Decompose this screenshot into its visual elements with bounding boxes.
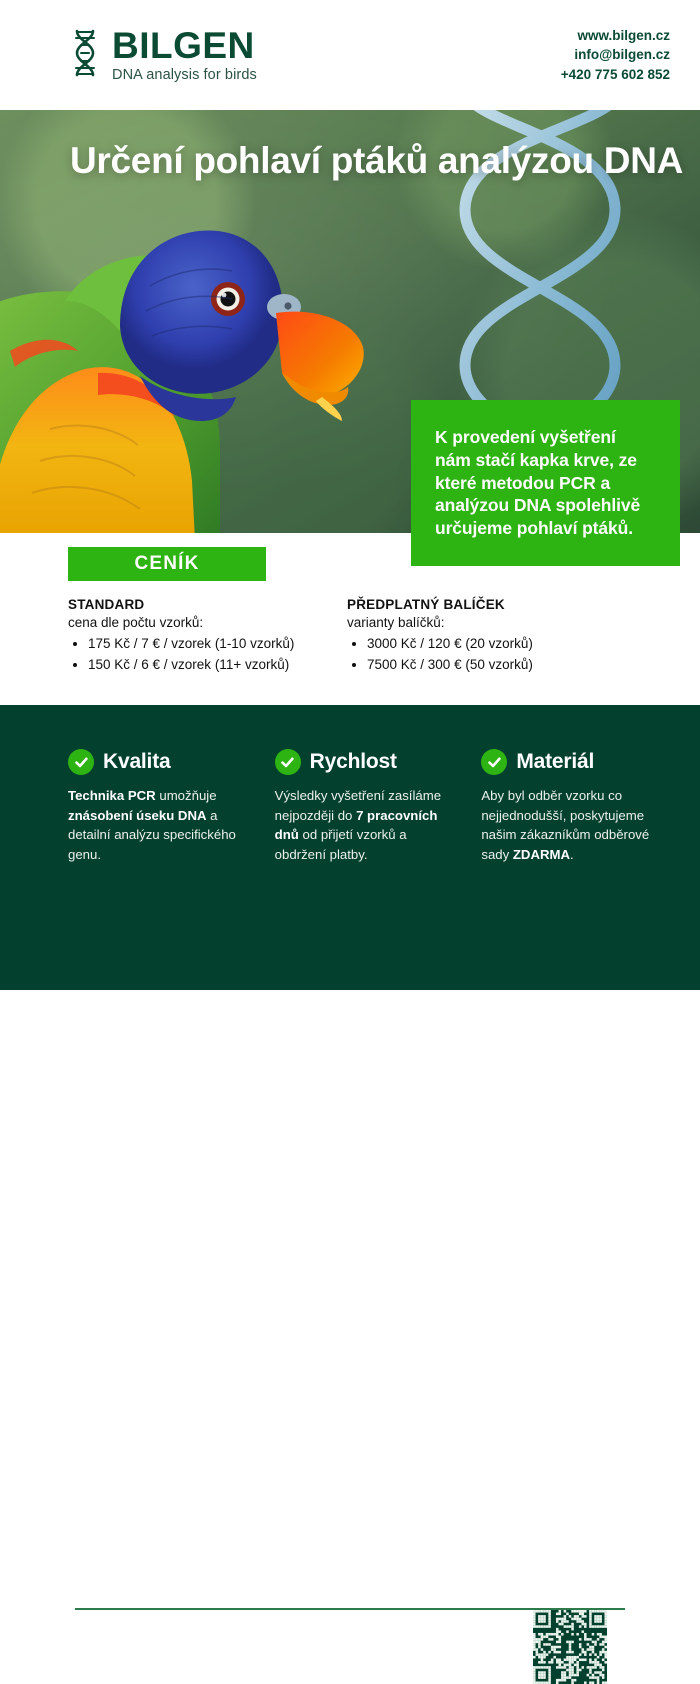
- standard-title: STANDARD: [68, 597, 348, 612]
- check-circle-icon: [68, 749, 94, 775]
- qr-code-icon[interactable]: [533, 1610, 607, 1684]
- page-header: BILGEN DNA analysis for birds www.bilgen…: [0, 0, 700, 110]
- standard-subtitle: cena dle počtu vzorků:: [68, 615, 348, 630]
- feature-kvalita: Kvalita Technika PCR umožňuje znásobení …: [68, 749, 251, 864]
- list-item: 3000 Kč / 120 € (20 vzorků): [367, 634, 647, 655]
- standard-price-list: 175 Kč / 7 € / vzorek (1-10 vzorků) 150 …: [88, 634, 348, 676]
- features-section: Kvalita Technika PCR umožňuje znásobení …: [0, 705, 700, 990]
- feature-body: Technika PCR umožňuje znásobení úseku DN…: [68, 786, 251, 864]
- check-circle-icon: [481, 749, 507, 775]
- list-item: 175 Kč / 7 € / vzorek (1-10 vzorků): [88, 634, 348, 655]
- dna-helix-icon: [70, 29, 100, 81]
- hero-title: Určení pohlaví ptáků analýzou DNA: [70, 138, 683, 185]
- check-circle-icon: [275, 749, 301, 775]
- list-item: 7500 Kč / 300 € (50 vzorků): [367, 655, 647, 676]
- hero-callout-box: K provedení vyšetření nám stačí kapka kr…: [411, 400, 680, 566]
- feature-title: Materiál: [516, 750, 594, 774]
- pricing-standard-column: STANDARD cena dle počtu vzorků: 175 Kč /…: [68, 597, 348, 676]
- package-title: PŘEDPLATNÝ BALÍČEK: [347, 597, 647, 612]
- feature-material: Materiál Aby byl odběr vzorku co nejjedn…: [481, 749, 664, 864]
- header-contact-block: www.bilgen.cz info@bilgen.cz +420 775 60…: [561, 26, 670, 83]
- feature-header: Kvalita: [68, 749, 251, 775]
- contact-website[interactable]: www.bilgen.cz: [561, 26, 670, 45]
- logo-tagline: DNA analysis for birds: [112, 68, 257, 83]
- brand-logo[interactable]: BILGEN DNA analysis for birds: [70, 27, 257, 83]
- contact-phone[interactable]: +420 775 602 852: [561, 65, 670, 84]
- pricelist-button[interactable]: CENÍK: [68, 547, 266, 581]
- logo-wordmark: BILGEN: [112, 27, 257, 64]
- feature-header: Rychlost: [275, 749, 458, 775]
- pricing-package-column: PŘEDPLATNÝ BALÍČEK varianty balíčků: 300…: [347, 597, 647, 676]
- features-row: Kvalita Technika PCR umožňuje znásobení …: [68, 749, 664, 864]
- feature-header: Materiál: [481, 749, 664, 775]
- feature-title: Rychlost: [310, 750, 397, 774]
- contact-email[interactable]: info@bilgen.cz: [561, 45, 670, 64]
- list-item: 150 Kč / 6 € / vzorek (11+ vzorků): [88, 655, 348, 676]
- feature-title: Kvalita: [103, 750, 170, 774]
- package-subtitle: varianty balíčků:: [347, 615, 647, 630]
- footer-cta-text: Objednávku provedete na www.bilgen.cz př…: [72, 1623, 502, 1673]
- feature-body: Aby byl odběr vzorku co nejjednodušší, p…: [481, 786, 664, 864]
- feature-body: Výsledky vyšetření zasíláme nejpozději d…: [275, 786, 458, 864]
- feature-rychlost: Rychlost Výsledky vyšetření zasíláme nej…: [275, 749, 458, 864]
- package-price-list: 3000 Kč / 120 € (20 vzorků) 7500 Kč / 30…: [367, 634, 647, 676]
